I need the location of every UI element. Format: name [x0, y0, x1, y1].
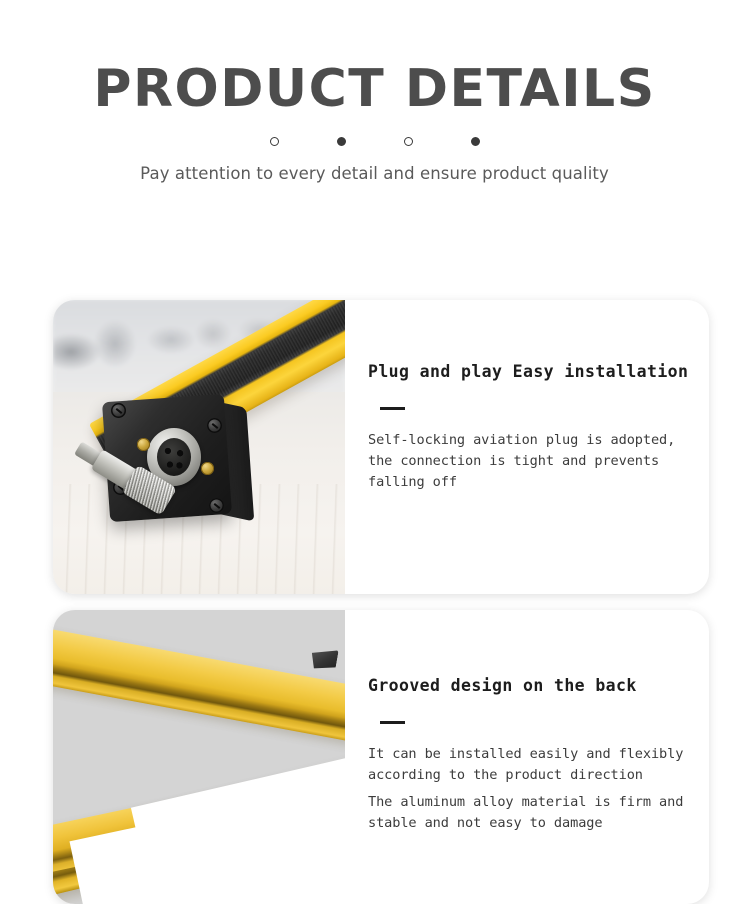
card-description-line: The aluminum alloy material is firm and: [368, 792, 683, 813]
card-image-grooved-profiles: [53, 610, 345, 904]
card-description-line: It can be installed easily and flexibly: [368, 744, 683, 765]
dot-indicator-group: [0, 137, 749, 146]
card-description-line: falling off: [368, 472, 688, 493]
card-text-grooved-design: Grooved design on the back It can be ins…: [345, 610, 709, 904]
card-description: It can be installed easily and flexibly …: [368, 744, 683, 786]
housing-screw-1: [111, 403, 126, 418]
light-curtain-photo: [53, 300, 345, 594]
card-heading: Plug and play Easy installation: [368, 362, 688, 381]
housing-screw-2: [207, 418, 222, 433]
card-description-line: the connection is tight and prevents: [368, 451, 688, 472]
page-title: PRODUCT DETAILS: [0, 62, 749, 117]
card-divider-rule: [380, 721, 405, 724]
feature-card-grooved-design: Grooved design on the back It can be ins…: [53, 610, 709, 904]
housing-screw-4: [209, 498, 224, 513]
photo-white-cutout-right: [131, 756, 345, 904]
card-text-plug-and-play: Plug and play Easy installation Self-loc…: [345, 300, 709, 594]
dot-indicator-2: [337, 137, 346, 146]
page-subtitle: Pay attention to every detail and ensure…: [0, 164, 749, 183]
dot-indicator-3: [404, 137, 413, 146]
page-header: PRODUCT DETAILS Pay attention to every d…: [0, 0, 749, 183]
aluminum-profile-back: [53, 623, 345, 756]
profile-black-end-cap: [309, 646, 338, 672]
card-description: The aluminum alloy material is firm and …: [368, 792, 683, 834]
card-description-line: stable and not easy to damage: [368, 813, 683, 834]
card-image-aviation-plug: [53, 300, 345, 594]
brass-insert-1: [137, 438, 150, 451]
card-description-line: Self-locking aviation plug is adopted,: [368, 430, 688, 451]
card-description-line: according to the product direction: [368, 765, 683, 786]
card-heading: Grooved design on the back: [368, 676, 683, 695]
card-description: Self-locking aviation plug is adopted, t…: [368, 430, 688, 493]
aluminum-profiles-photo: [53, 610, 345, 904]
dot-indicator-1: [270, 137, 279, 146]
card-divider-rule: [380, 407, 405, 410]
feature-card-plug-and-play: Plug and play Easy installation Self-loc…: [53, 300, 709, 594]
brass-insert-2: [201, 462, 214, 475]
dot-indicator-4: [471, 137, 480, 146]
